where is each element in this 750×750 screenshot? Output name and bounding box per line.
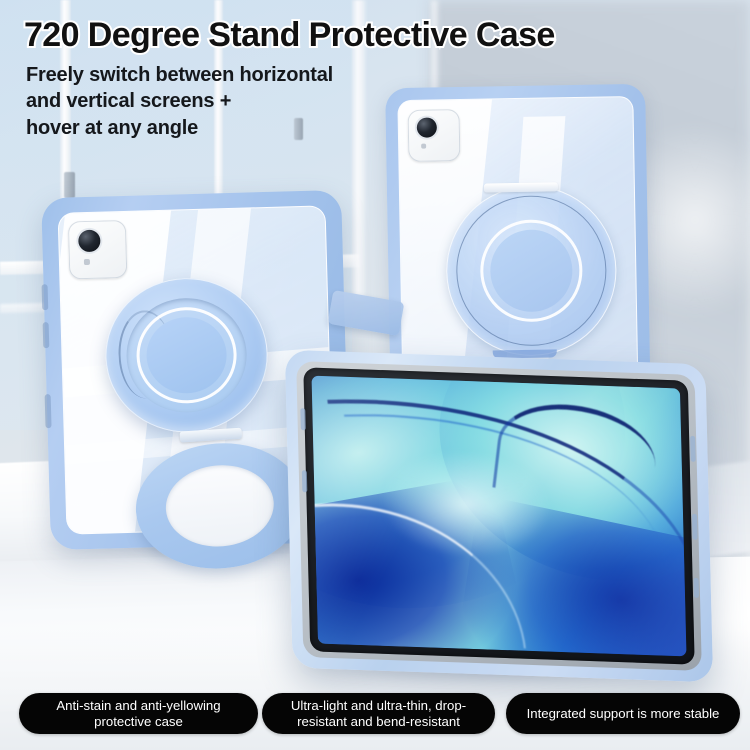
camera-flash-icon xyxy=(84,259,90,265)
side-button-cutout xyxy=(692,514,698,540)
subtitle-line-2: and vertical screens + xyxy=(26,88,446,114)
ring-stand-tab xyxy=(484,182,558,192)
feature-pill-integrated-support: Integrated support is more stable xyxy=(506,693,740,734)
page-title: 720 Degree Stand Protective Case xyxy=(24,16,555,55)
side-button-cutout xyxy=(45,394,52,428)
tablet-screen[interactable] xyxy=(312,376,687,657)
window-handle-icon xyxy=(64,172,75,198)
side-button-cutout xyxy=(43,322,50,348)
kickstand-ring[interactable] xyxy=(131,437,308,575)
page-subtitle: Freely switch between horizontal and ver… xyxy=(26,62,446,141)
screen-glare xyxy=(312,376,687,657)
side-button-cutout xyxy=(690,436,696,462)
front-tablet xyxy=(285,350,713,683)
side-button-cutout xyxy=(300,408,306,430)
feature-pill-anti-stain: Anti-stain and anti-yellowing protective… xyxy=(19,693,258,734)
side-button-cutout xyxy=(694,578,699,598)
feature-pill-ultra-light: Ultra-light and ultra-thin, drop-resista… xyxy=(262,693,495,734)
side-button-cutout xyxy=(42,284,49,310)
subtitle-line-3: hover at any angle xyxy=(26,115,446,141)
camera-module-icon xyxy=(68,220,128,280)
product-marketing-image: 720 Degree Stand Protective Case Freely … xyxy=(0,0,750,750)
camera-flash-icon xyxy=(421,144,426,149)
feature-caption-bar: Anti-stain and anti-yellowing protective… xyxy=(0,693,750,737)
side-button-cutout xyxy=(302,470,308,492)
camera-lens-icon xyxy=(78,230,101,253)
subtitle-line-1: Freely switch between horizontal xyxy=(26,62,446,88)
